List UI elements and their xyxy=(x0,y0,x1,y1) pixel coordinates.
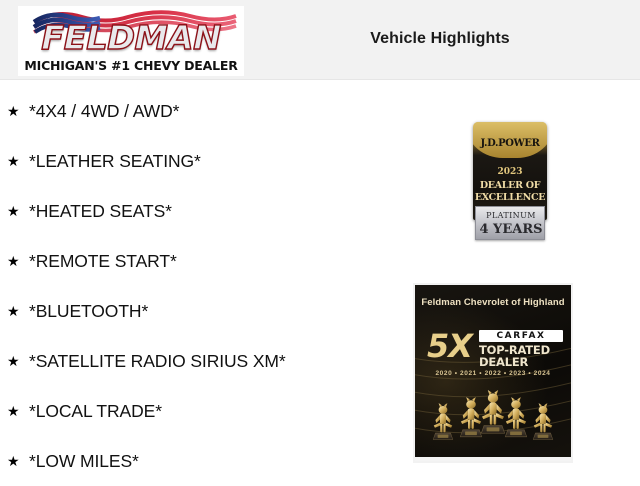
logo-tagline: MICHIGAN'S #1 CHEVY DEALER xyxy=(18,58,244,73)
highlight-label: *SATELLITE RADIO SIRIUS XM* xyxy=(29,351,286,372)
jdpower-ribbon-tier: PLATINUM xyxy=(476,211,546,220)
star-bullet-icon: ★ xyxy=(7,454,29,468)
carfax-multiplier: 5X xyxy=(427,327,472,365)
carfax-badge-row: 5X CARFAX TOP-RATED DEALER xyxy=(427,329,563,367)
carfax-award-line-2: DEALER xyxy=(479,355,528,369)
highlight-label: *REMOTE START* xyxy=(29,251,177,272)
jdpower-award-line-2: EXCELLENCE xyxy=(473,192,547,203)
list-item: ★ *BLUETOOTH* xyxy=(0,286,400,336)
list-item: ★ *SATELLITE RADIO SIRIUS XM* xyxy=(0,336,400,386)
highlight-label: *LOCAL TRADE* xyxy=(29,401,162,422)
highlight-label: *4X4 / 4WD / AWD* xyxy=(29,101,179,122)
list-item: ★ *4X4 / 4WD / AWD* xyxy=(0,86,400,136)
highlight-label: *HEATED SEATS* xyxy=(29,201,172,222)
star-bullet-icon: ★ xyxy=(7,104,29,118)
star-bullet-icon: ★ xyxy=(7,254,29,268)
list-item: ★ *REMOTE START* xyxy=(0,236,400,286)
list-item: ★ *LOCAL TRADE* xyxy=(0,386,400,436)
page-title: Vehicle Highlights xyxy=(280,30,600,48)
jdpower-ribbon: PLATINUM 4 YEARS xyxy=(475,206,545,240)
star-bullet-icon: ★ xyxy=(7,404,29,418)
logo-wordmark: FELDMAN xyxy=(16,20,247,56)
list-item: ★ *LOW MILES* xyxy=(0,436,400,486)
jdpower-ribbon-duration: 4 YEARS xyxy=(476,222,546,237)
carfax-dealer-name: Feldman Chevrolet of Highland xyxy=(415,296,571,309)
jdpower-award-badge: J.D.POWER 2023 DEALER OF EXCELLENCE PLAT… xyxy=(473,122,547,240)
star-bullet-icon: ★ xyxy=(7,204,29,218)
highlight-label: *BLUETOOTH* xyxy=(29,301,148,322)
carfax-award-image: Feldman Chevrolet of Highland 5X CARFAX … xyxy=(413,283,573,463)
star-bullet-icon: ★ xyxy=(7,354,29,368)
jdpower-award-line-1: DEALER OF xyxy=(473,180,547,191)
list-item: ★ *HEATED SEATS* xyxy=(0,186,400,236)
carfax-award-years: 2020 • 2021 • 2022 • 2023 • 2024 xyxy=(415,370,571,377)
carfax-footer-strip xyxy=(415,457,571,461)
star-bullet-icon: ★ xyxy=(7,304,29,318)
star-bullet-icon: ★ xyxy=(7,154,29,168)
jdpower-brand-label: J.D.POWER xyxy=(473,138,547,149)
vehicle-highlights-list: ★ *4X4 / 4WD / AWD* ★ *LEATHER SEATING* … xyxy=(0,86,400,486)
carfax-trophy-group-icon xyxy=(423,381,563,461)
highlight-label: *LEATHER SEATING* xyxy=(29,151,201,172)
highlight-label: *LOW MILES* xyxy=(29,451,139,472)
dealer-logo[interactable]: FELDMAN MICHIGAN'S #1 CHEVY DEALER xyxy=(18,6,244,76)
jdpower-year-label: 2023 xyxy=(473,167,547,177)
list-item: ★ *LEATHER SEATING* xyxy=(0,136,400,186)
carfax-brand-logo: CARFAX xyxy=(479,330,563,342)
